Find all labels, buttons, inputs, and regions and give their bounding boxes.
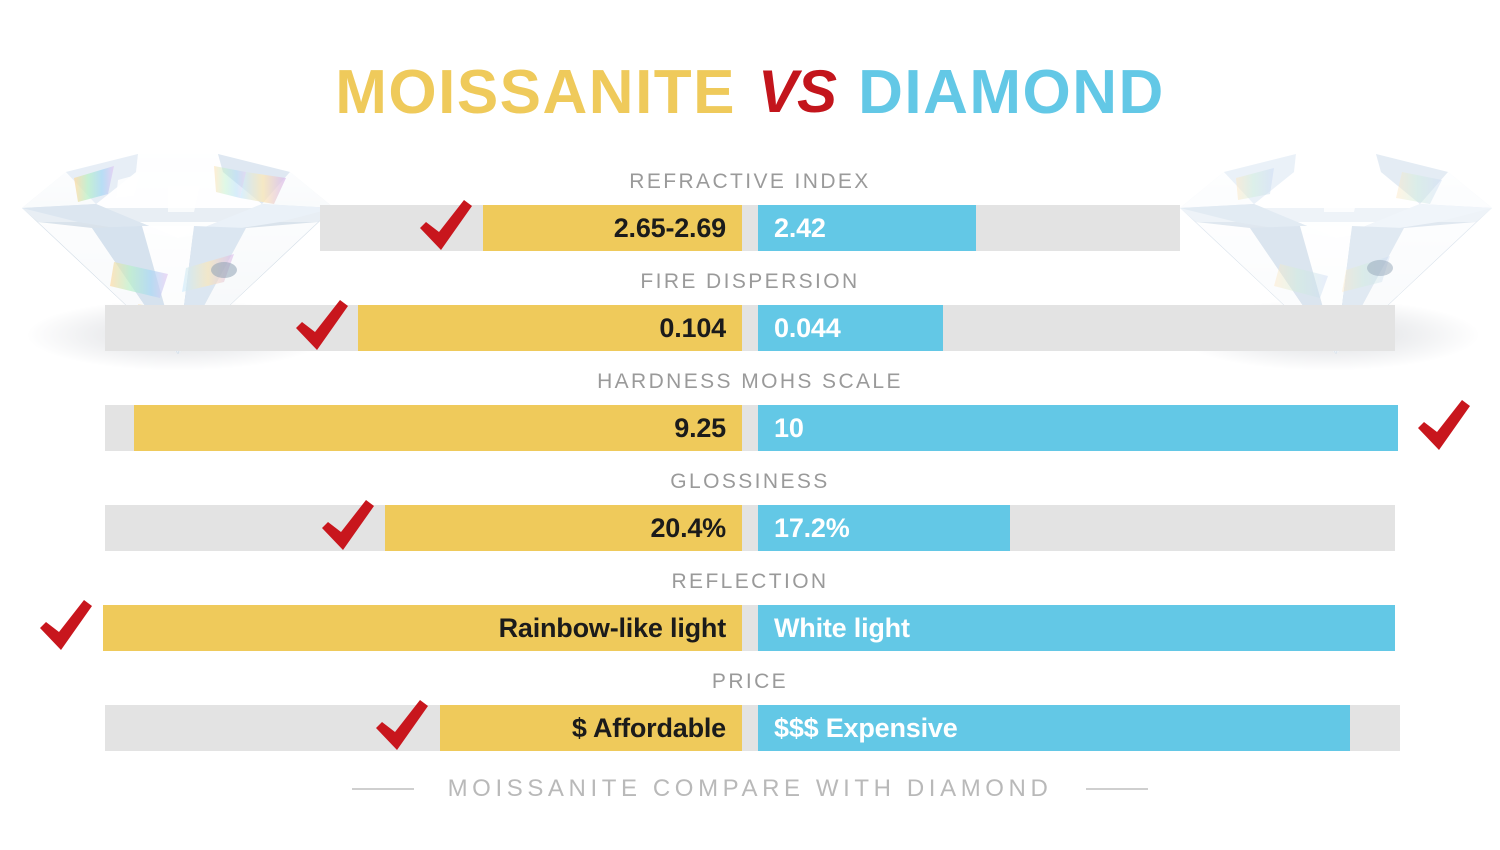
checkmark-icon <box>318 498 376 556</box>
moissanite-value: Rainbow-like light <box>499 613 742 644</box>
row-label-refractive-index: REFRACTIVE INDEX <box>0 170 1500 194</box>
table-row: HARDNESS MOHS SCALE 9.25 10 <box>0 368 1500 468</box>
infographic-canvas: MOISSANITEVSDIAMOND <box>0 0 1500 850</box>
table-row: REFRACTIVE INDEX 2.65-2.69 2.42 <box>0 168 1500 268</box>
comparison-rows: REFRACTIVE INDEX 2.65-2.69 2.42 FIRE DIS… <box>0 168 1500 768</box>
table-row: REFLECTION Rainbow-like light White ligh… <box>0 568 1500 668</box>
diamond-value: $$$ Expensive <box>758 713 958 744</box>
checkmark-icon <box>372 698 430 756</box>
title-moissanite: MOISSANITE <box>335 62 736 124</box>
diamond-value: 2.42 <box>758 213 826 244</box>
diamond-bar: $$$ Expensive <box>758 705 1350 751</box>
row-label-fire-dispersion: FIRE DISPERSION <box>0 270 1500 294</box>
table-row: GLOSSINESS 20.4% 17.2% <box>0 468 1500 568</box>
diamond-bar: 2.42 <box>758 205 976 251</box>
moissanite-value: $ Affordable <box>572 713 742 744</box>
moissanite-bar: $ Affordable <box>440 705 742 751</box>
diamond-bar: 0.044 <box>758 305 943 351</box>
page-title: MOISSANITEVSDIAMOND <box>0 62 1500 124</box>
moissanite-value: 0.104 <box>659 313 742 344</box>
checkmark-icon <box>292 298 350 356</box>
diamond-bar: White light <box>758 605 1395 651</box>
table-row: PRICE $ Affordable $$$ Expensive <box>0 668 1500 768</box>
table-row: FIRE DISPERSION 0.104 0.044 <box>0 268 1500 368</box>
moissanite-bar: 0.104 <box>358 305 742 351</box>
moissanite-value: 20.4% <box>650 513 742 544</box>
diamond-value: 10 <box>758 413 804 444</box>
title-diamond: DIAMOND <box>858 62 1165 124</box>
row-label-hardness-mohs-scale: HARDNESS MOHS SCALE <box>0 370 1500 394</box>
row-label-reflection: REFLECTION <box>0 570 1500 594</box>
checkmark-icon <box>416 198 474 256</box>
diamond-bar: 17.2% <box>758 505 1010 551</box>
checkmark-icon <box>36 598 94 656</box>
diamond-value: White light <box>758 613 910 644</box>
diamond-value: 0.044 <box>758 313 841 344</box>
moissanite-bar: 9.25 <box>134 405 742 451</box>
diamond-value: 17.2% <box>758 513 850 544</box>
moissanite-bar: 20.4% <box>385 505 742 551</box>
footer-rule-left <box>352 788 414 790</box>
moissanite-bar: 2.65-2.69 <box>483 205 742 251</box>
footer-caption: MOISSANITE COMPARE WITH DIAMOND <box>448 775 1053 803</box>
row-label-glossiness: GLOSSINESS <box>0 470 1500 494</box>
moissanite-bar: Rainbow-like light <box>103 605 742 651</box>
checkmark-icon <box>1414 398 1472 456</box>
row-track <box>105 505 1395 551</box>
row-label-price: PRICE <box>0 670 1500 694</box>
moissanite-value: 2.65-2.69 <box>614 213 742 244</box>
footer: MOISSANITE COMPARE WITH DIAMOND <box>0 775 1500 803</box>
moissanite-value: 9.25 <box>674 413 742 444</box>
title-vs: VS <box>758 62 836 122</box>
diamond-bar: 10 <box>758 405 1398 451</box>
footer-rule-right <box>1086 788 1148 790</box>
